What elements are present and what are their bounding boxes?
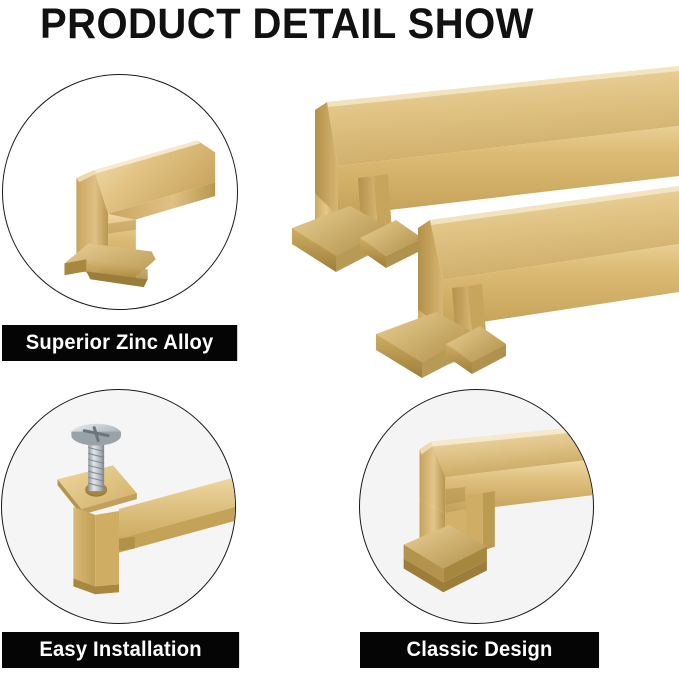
caption-superior-zinc-alloy: Superior Zinc Alloy <box>2 325 237 361</box>
product-detail-page: PRODUCT DETAIL SHOW <box>0 0 679 675</box>
classic-design-illustration <box>360 390 593 623</box>
detail-circle-zinc-alloy <box>2 74 238 310</box>
gold-cabinet-pull-pair-illustration <box>280 66 679 378</box>
easy-installation-illustration <box>2 390 235 623</box>
detail-circle-classic-design <box>359 389 594 624</box>
caption-easy-installation: Easy Installation <box>2 632 239 668</box>
detail-circle-easy-installation <box>1 389 236 624</box>
page-title: PRODUCT DETAIL SHOW <box>40 2 534 47</box>
zinc-alloy-illustration <box>3 75 237 309</box>
caption-classic-design: Classic Design <box>360 632 599 668</box>
hero-product-photo <box>280 66 679 378</box>
